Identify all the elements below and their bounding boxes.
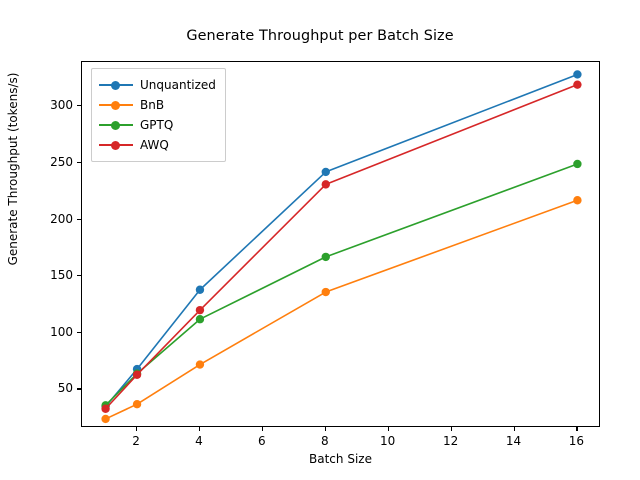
legend-dot-icon: [111, 121, 120, 130]
y-tick-label: 150: [28, 268, 73, 282]
x-tick-label: 12: [431, 434, 471, 448]
series-bnb: [101, 196, 581, 423]
legend-item-unquantized[interactable]: Unquantized: [99, 75, 216, 95]
data-point: [322, 288, 330, 296]
data-point: [196, 315, 204, 323]
data-point: [573, 196, 581, 204]
data-point: [573, 80, 581, 88]
legend-marker-icon: [99, 78, 133, 92]
y-axis-label: Generate Throughput (tokens/s): [6, 4, 20, 334]
series-line: [106, 200, 578, 419]
data-point: [101, 405, 109, 413]
chart-legend: UnquantizedBnBGPTQAWQ: [91, 68, 226, 162]
legend-marker-icon: [99, 98, 133, 112]
x-tick-label: 16: [556, 434, 596, 448]
y-tick-label: 250: [28, 155, 73, 169]
legend-label: AWQ: [140, 138, 169, 152]
legend-dot-icon: [111, 81, 120, 90]
data-point: [322, 168, 330, 176]
x-tick-label: 8: [305, 434, 345, 448]
y-tick-label: 100: [28, 325, 73, 339]
data-point: [196, 360, 204, 368]
data-point: [133, 400, 141, 408]
legend-item-bnb[interactable]: BnB: [99, 95, 216, 115]
legend-marker-icon: [99, 138, 133, 152]
legend-label: Unquantized: [140, 78, 216, 92]
legend-label: GPTQ: [140, 118, 173, 132]
chart-figure: Generate Throughput per Batch Size 50100…: [0, 0, 640, 480]
x-tick-label: 10: [368, 434, 408, 448]
y-tick-label: 50: [28, 381, 73, 395]
data-point: [573, 70, 581, 78]
x-tick-label: 2: [116, 434, 156, 448]
data-point: [322, 180, 330, 188]
data-point: [101, 415, 109, 423]
legend-dot-icon: [111, 101, 120, 110]
chart-title: Generate Throughput per Batch Size: [0, 28, 640, 44]
data-point: [196, 306, 204, 314]
legend-dot-icon: [111, 141, 120, 150]
series-gptq: [101, 160, 581, 410]
x-axis-label: Batch Size: [81, 452, 600, 466]
legend-item-gptq[interactable]: GPTQ: [99, 115, 216, 135]
series-line: [106, 164, 578, 405]
y-tick-label: 300: [28, 98, 73, 112]
x-tick-label: 6: [242, 434, 282, 448]
data-point: [196, 286, 204, 294]
y-tick-label: 200: [28, 212, 73, 226]
x-tick-label: 14: [494, 434, 534, 448]
data-point: [322, 253, 330, 261]
legend-marker-icon: [99, 118, 133, 132]
data-point: [573, 160, 581, 168]
legend-item-awq[interactable]: AWQ: [99, 135, 216, 155]
legend-label: BnB: [140, 98, 164, 112]
data-point: [133, 371, 141, 379]
x-tick-label: 4: [179, 434, 219, 448]
